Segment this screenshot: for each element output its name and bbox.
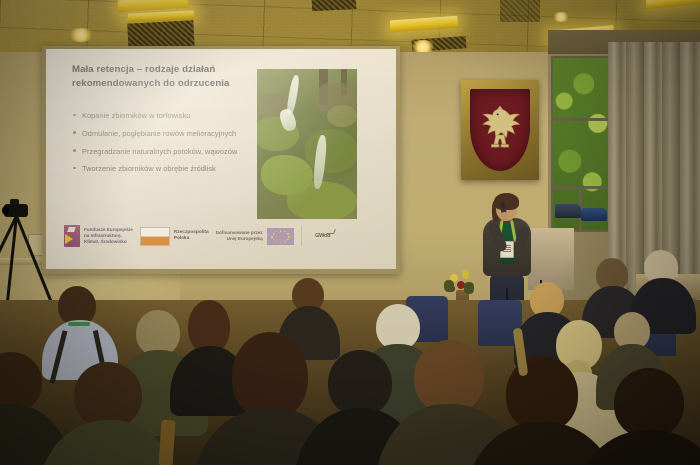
audience-lanyard — [68, 322, 90, 326]
audience-head — [232, 332, 308, 420]
flower — [462, 270, 469, 279]
audience-head — [328, 350, 392, 416]
audience-head — [74, 362, 142, 428]
slide-waterfall-photo — [257, 69, 357, 219]
parked-car — [555, 204, 581, 218]
eu-funds-line-1: Fundusze Europejskie — [84, 227, 133, 233]
eu-funds-text: Fundusze Europejskie na Infrastrukturę, … — [84, 227, 133, 246]
slide-bullet: Tworzenie zbiorników w obrębie źródlisk — [73, 164, 273, 173]
coat-of-arms-shield — [470, 89, 530, 171]
audience-head — [414, 340, 484, 414]
camera-viewfinder — [10, 199, 19, 205]
eu-cofinance-text: Dofinansowane przez Unię Europejską — [216, 230, 263, 242]
window-curtain — [626, 42, 644, 310]
camera-lens-icon — [2, 206, 9, 215]
parked-car — [581, 208, 607, 221]
window-mullion — [553, 118, 609, 121]
republic-line-2: Polska — [174, 236, 209, 242]
polish-flag-icon — [140, 227, 170, 246]
eu-funds-mark-icon — [64, 225, 80, 247]
slide-title-line-2: rekomendowanych do odrzucenia — [72, 77, 257, 91]
eu-cofinance-logo: Dofinansowane przez Unię Europejską — [216, 228, 294, 245]
slide-bullet-list: Kopanie zbiorników w torfowisku Odmulani… — [73, 111, 273, 182]
photo-moss — [287, 181, 357, 219]
partner-logo-tick-icon — [326, 229, 336, 234]
photo-leaf-litter — [259, 75, 285, 93]
speaker-hand — [501, 212, 508, 221]
window-curtain — [680, 42, 700, 310]
white-eagle-icon — [477, 101, 523, 157]
window — [551, 56, 611, 232]
slide-bullet: Kopanie zbiorników w torfowisku — [73, 111, 273, 120]
slide-bullet: Odmulanie, pogłębianie rowów melioracyjn… — [73, 129, 273, 138]
flower-foliage — [464, 282, 474, 294]
slide-title: Mała retencja – rodzaje działań rekomend… — [72, 63, 257, 90]
photo-leaf-litter — [327, 105, 357, 127]
eu-funds-logo: Fundusze Europejskie na Infrastrukturę, … — [64, 225, 133, 247]
speaker-hair — [494, 193, 519, 210]
eu-funds-line-3: Klimat, Środowisko — [84, 239, 133, 245]
eu-flag-icon — [267, 228, 294, 245]
ceiling-vent — [500, 0, 540, 22]
audience-head — [614, 368, 684, 438]
republic-of-poland-logo: Rzeczpospolita Polska — [140, 227, 209, 246]
coat-of-arms-frame — [461, 80, 539, 180]
slide-bullet: Przegradzanie naturalnych potoków, wąwoz… — [73, 147, 273, 156]
conference-room-photo: Mała retencja – rodzaje działań rekomend… — [0, 0, 700, 465]
republic-text: Rzeczpospolita Polska — [174, 230, 209, 243]
flower-foliage — [444, 280, 454, 292]
slide-logo-bar: Fundusze Europejskie na Infrastrukturę, … — [64, 219, 382, 253]
audience-head — [506, 356, 578, 432]
presentation-slide: Mała retencja – rodzaje działań rekomend… — [46, 49, 396, 269]
ceiling-spot-light — [68, 28, 94, 42]
ceiling-spot-light — [552, 12, 570, 22]
slide-title-line-1: Mała retencja – rodzaje działań — [72, 63, 257, 77]
logo-divider — [301, 226, 302, 246]
photo-moss — [305, 129, 357, 173]
eu-cofinance-line-2: Unię Europejską — [216, 236, 263, 242]
partner-logo: GWod — [309, 226, 337, 246]
